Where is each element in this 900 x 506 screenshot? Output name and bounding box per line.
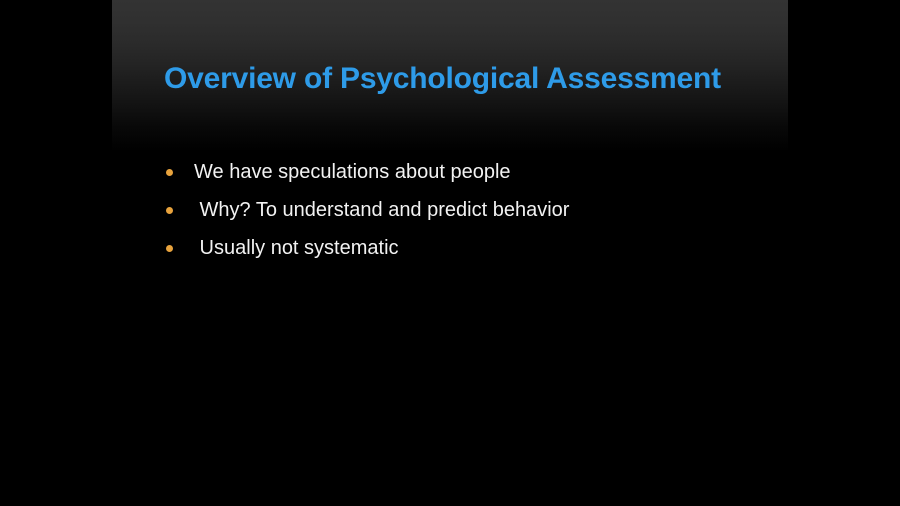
list-item: Why? To understand and predict behavior xyxy=(160,196,780,234)
list-item: Usually not systematic xyxy=(160,234,780,272)
list-item-label: Usually not systematic xyxy=(173,234,780,262)
bullet-list: We have speculations about people Why? T… xyxy=(160,158,780,272)
bullet-dot-icon xyxy=(166,207,173,214)
page-title: Overview of Psychological Assessment xyxy=(164,62,721,95)
bullet-dot-icon xyxy=(166,245,173,252)
list-item-label: Why? To understand and predict behavior xyxy=(173,196,780,224)
list-item-label: We have speculations about people xyxy=(173,158,780,186)
presentation-slide: Overview of Psychological Assessment We … xyxy=(0,0,900,506)
list-item: We have speculations about people xyxy=(160,158,780,196)
bullet-dot-icon xyxy=(166,169,173,176)
